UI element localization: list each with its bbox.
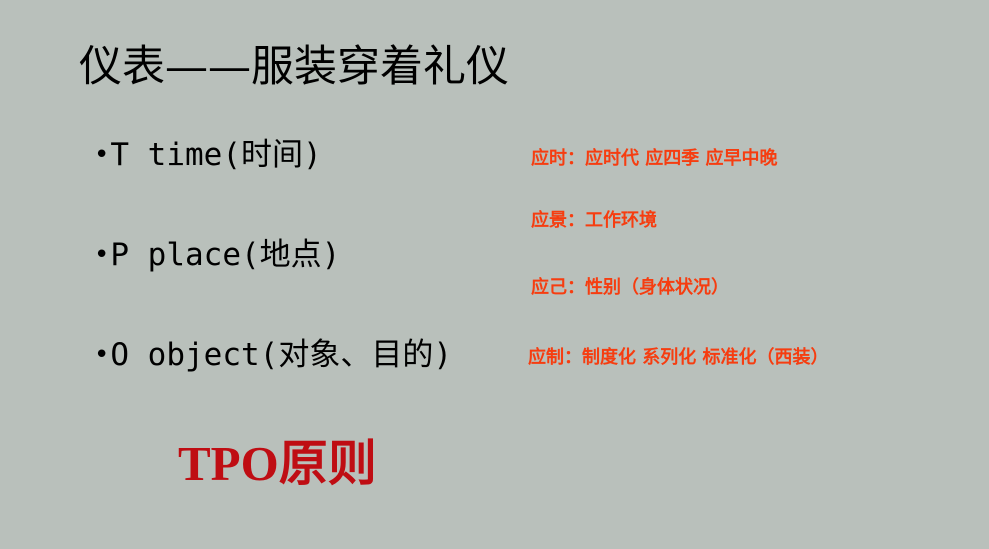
bullet-dot-icon: • [94,242,109,268]
bullet-item-label: T time(时间) [110,140,321,171]
bullet-dot-icon: • [94,342,109,368]
bullet-item-label: P place(地点) [110,240,340,271]
bullet-item-label: O object(对象、目的) [110,340,452,371]
annotation-item-scene: 应景：工作环境 [531,212,958,230]
bullet-list: • T time(时间) • P place(地点) • O object(对象… [94,140,524,440]
annotation-list: 应时：应时代 应四季 应早中晚 应景：工作环境 应己：性别（身体状况） 应制：制… [528,150,958,367]
bullet-dot-icon: • [94,142,109,168]
annotation-item-system: 应制：制度化 系列化 标准化（西装） [528,349,958,367]
bullet-item-object: • O object(对象、目的) [94,340,524,440]
bullet-item-place: • P place(地点) [94,240,524,340]
slide-title: 仪表——服装穿着礼仪 [79,44,509,90]
presentation-slide: 仪表——服装穿着礼仪 • T time(时间) • P place(地点) • … [0,0,989,549]
bullet-item-time: • T time(时间) [94,140,524,240]
annotation-item-self: 应己：性别（身体状况） [531,279,958,297]
annotation-item-time: 应时：应时代 应四季 应早中晚 [531,150,958,168]
tpo-principle-label: TPO原则 [178,438,377,489]
